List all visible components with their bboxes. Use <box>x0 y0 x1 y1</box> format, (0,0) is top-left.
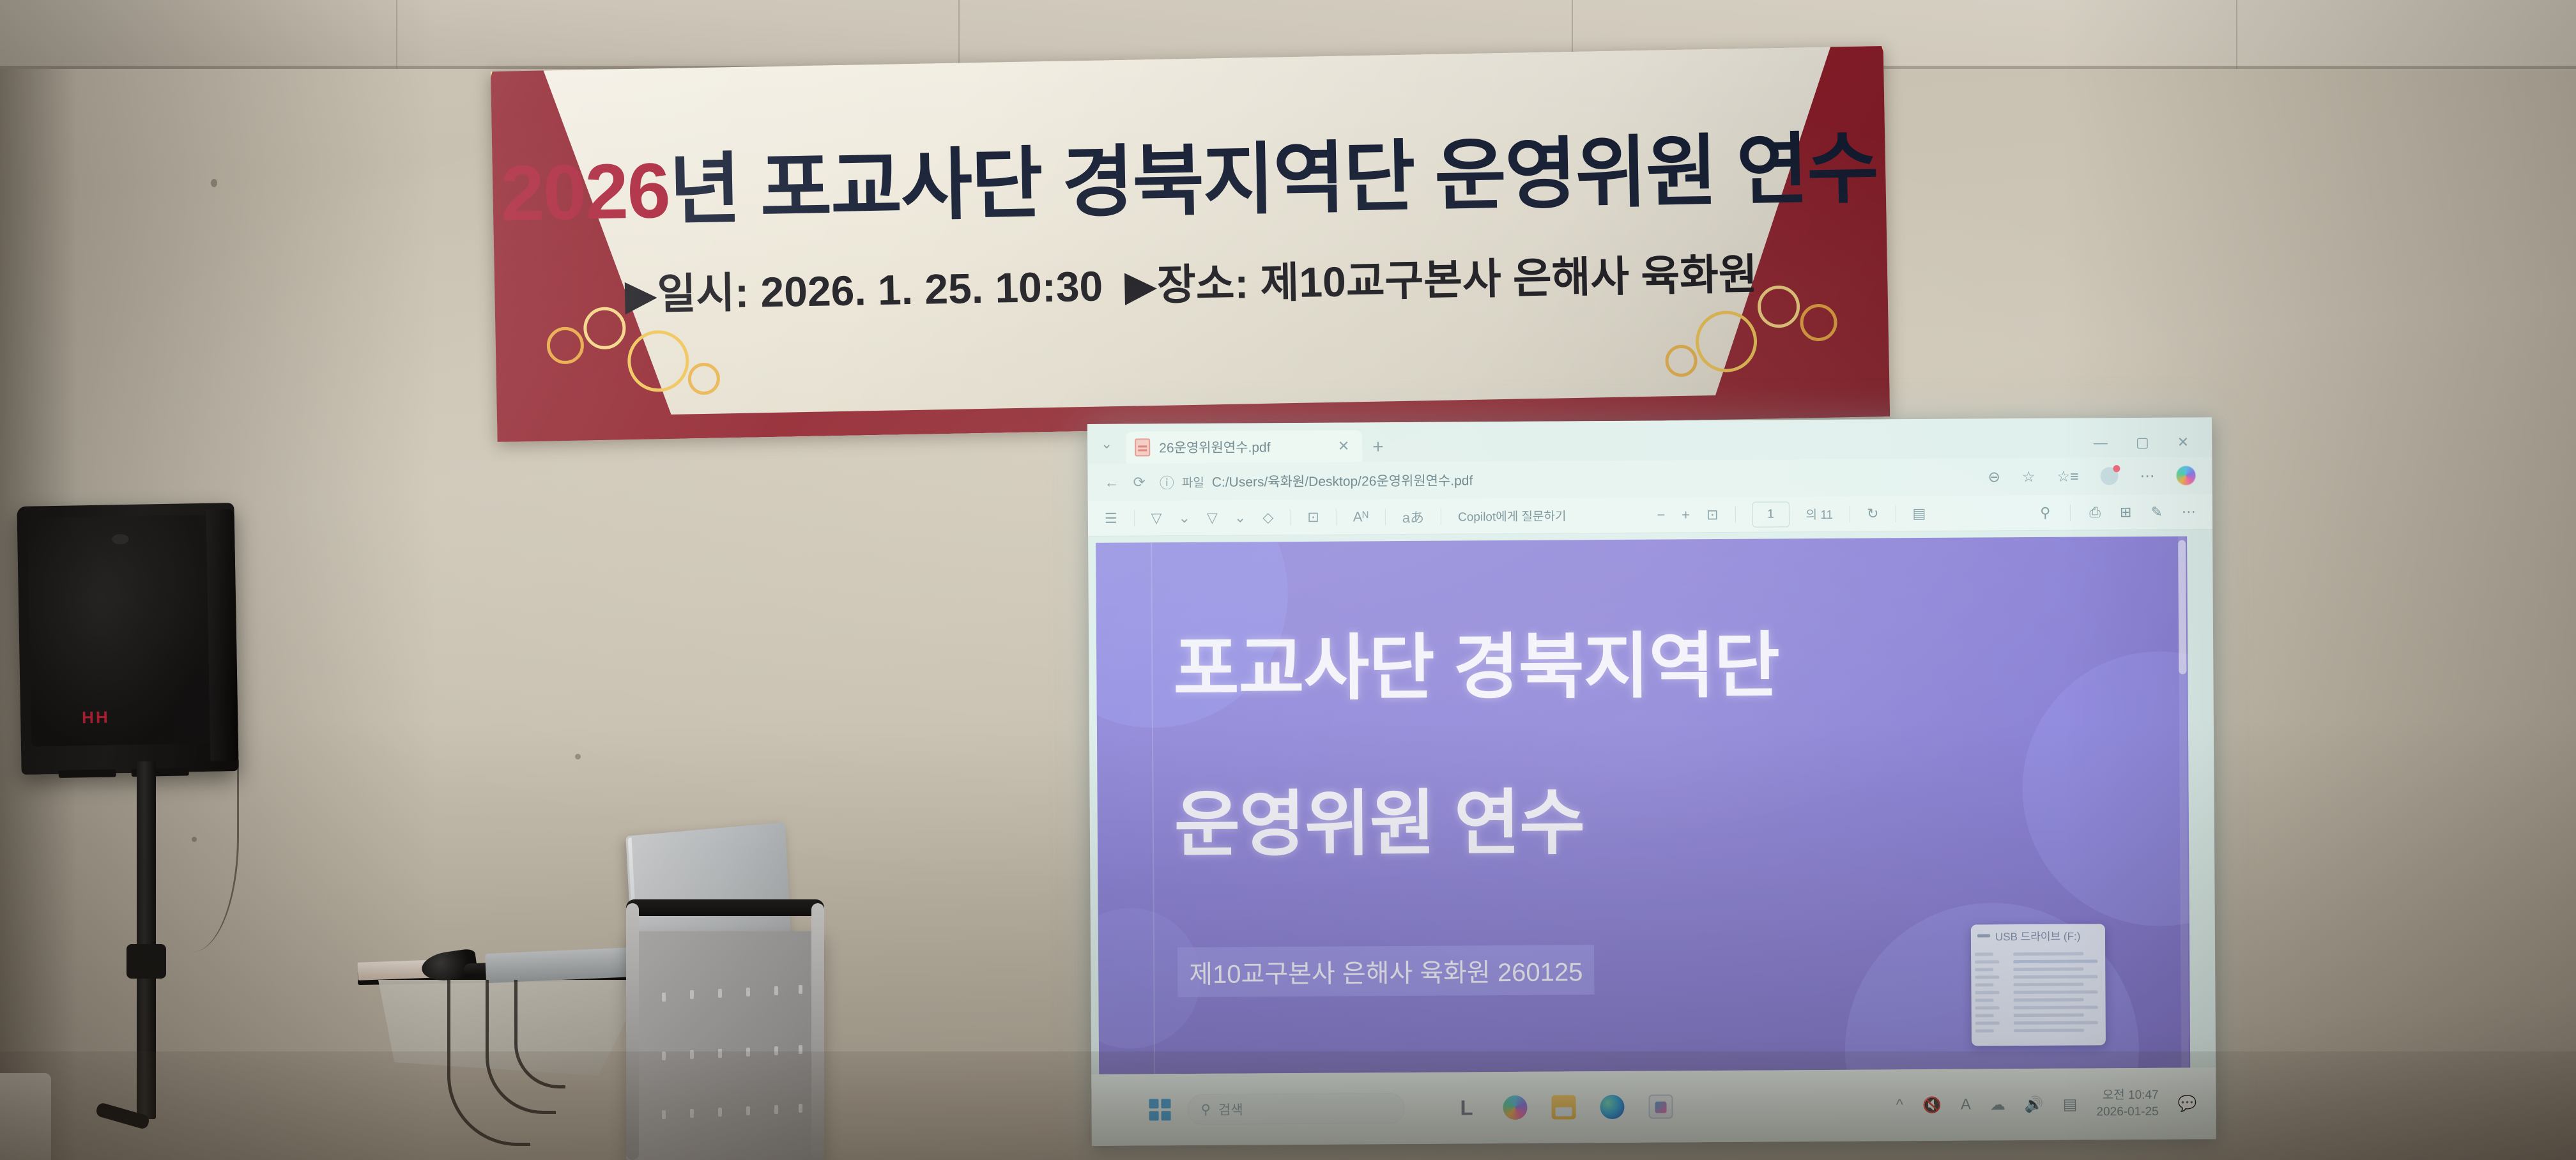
banner-date-label: 일시: <box>657 269 749 318</box>
banner-place-label: 장소: <box>1156 259 1249 309</box>
pdf-more-icon[interactable]: ⋯ <box>2182 503 2196 520</box>
erase-icon[interactable]: ◇ <box>1262 509 1273 526</box>
projected-screen: ⌄ 26운영위원연수.pdf ✕ + — ▢ ✕ ← ⟳ ⓘ 파일 C:/Use… <box>1087 417 2216 1146</box>
banner-swoosh-cream <box>491 46 1080 442</box>
mini-window-body <box>1971 945 2106 1046</box>
room-scene: 2026년 포교사단 경북지역단 운영위원 연수 ▶일시: 2026. 1. 2… <box>0 0 2576 1160</box>
speaker-stand-clamp <box>126 944 166 979</box>
page-total-label: 의 11 <box>1805 505 1833 523</box>
speaker-cable <box>162 760 239 952</box>
fit-page-icon[interactable]: ⊡ <box>1706 506 1719 523</box>
save-icon[interactable]: ⊞ <box>2120 504 2132 521</box>
pa-speaker: HH <box>17 503 238 775</box>
mini-window-sidebar <box>1971 946 2010 1046</box>
toolbar-divider <box>1850 505 1850 522</box>
highlight-caret-icon[interactable]: ⌄ <box>1178 510 1190 526</box>
back-icon[interactable]: ← <box>1104 473 1119 491</box>
toolbar-divider <box>1735 506 1735 523</box>
pdf-scrollbar-thumb[interactable] <box>2178 540 2186 675</box>
copilot-ask-button[interactable]: Copilot에게 질문하기 <box>1458 507 1566 524</box>
tab-title: 26운영위원연수.pdf <box>1159 437 1270 457</box>
draw-caret-icon[interactable]: ⌄ <box>1234 509 1246 526</box>
toolbar-divider <box>1895 505 1896 522</box>
place-marker-icon: ▶ <box>1124 261 1158 309</box>
page-layout-icon[interactable]: ▤ <box>1912 505 1926 521</box>
zoom-in-button[interactable]: + <box>1682 507 1690 523</box>
site-info-icon[interactable]: ⓘ <box>1160 471 1174 492</box>
date-marker-icon: ▶ <box>624 270 657 318</box>
text-box-icon[interactable]: ⊡ <box>1307 508 1319 525</box>
address-bar[interactable]: ← ⟳ ⓘ 파일 C:/Users/육화원/Desktop/26운영위원연수.p… <box>1087 457 2212 501</box>
close-button[interactable]: ✕ <box>2177 434 2189 450</box>
page-number-input[interactable]: 1 <box>1752 501 1789 527</box>
slide-heading-line2: 운영위원 연수 <box>1174 765 1584 871</box>
browser-tab-strip: ⌄ 26운영위원연수.pdf ✕ + — ▢ ✕ <box>1087 417 2212 464</box>
pdf-slide: 포교사단 경북지역단 운영위원 연수 제10교구본사 은해사 육화원 26012… <box>1096 536 2190 1074</box>
toolbar-divider <box>1385 508 1386 525</box>
url-field[interactable]: ⓘ 파일 C:/Users/육화원/Desktop/26운영위원연수.pdf <box>1160 466 1974 493</box>
ceiling-seam <box>958 0 960 69</box>
ceiling-seam <box>396 0 397 69</box>
toolbar-divider <box>1336 508 1337 525</box>
floor <box>0 1051 2576 1160</box>
banner-year-suffix: 년 <box>668 146 740 234</box>
maximize-button[interactable]: ▢ <box>2136 434 2149 451</box>
toolbar-divider <box>1134 510 1135 526</box>
banner-date-value: 2026. 1. 25. 10:30 <box>760 263 1103 316</box>
copilot-icon[interactable] <box>2176 466 2195 485</box>
tab-list-caret-icon[interactable]: ⌄ <box>1087 424 1126 464</box>
read-aloud-icon[interactable]: Aᴺ <box>1353 508 1368 525</box>
reload-icon[interactable]: ⟳ <box>1133 473 1145 491</box>
mini-window-file-list <box>2009 945 2106 1046</box>
ceiling-seam <box>2236 0 2237 69</box>
zoom-out-button[interactable]: − <box>1657 507 1665 523</box>
tab-close-icon[interactable]: ✕ <box>1334 438 1354 454</box>
banner-place-value: 제10교구본사 은해사 육화원 <box>1260 250 1758 307</box>
new-tab-button[interactable]: + <box>1372 436 1384 458</box>
url-scheme-label: 파일 <box>1182 473 1204 490</box>
usb-drive-explorer-window[interactable]: USB 드라이브 (F:) <box>1971 924 2106 1046</box>
mini-window-titlebar: USB 드라이브 (F:) <box>1971 924 2105 946</box>
event-banner: 2026년 포교사단 경북지역단 운영위원 연수 ▶일시: 2026. 1. 2… <box>491 46 1890 442</box>
toolbar-divider <box>2069 504 2070 521</box>
search-icon[interactable]: ⚲ <box>2040 504 2050 521</box>
print-icon[interactable]: ⎙ <box>2089 504 2101 521</box>
pdf-toolbar: ☰ ▽ ⌄ ▽ ⌄ ◇ ⊡ Aᴺ aあ Copilot에게 질문하기 − + ⊡… <box>1088 494 2212 537</box>
wall-speck <box>211 179 217 187</box>
draw-icon[interactable]: ▽ <box>1207 509 1218 526</box>
browser-tab[interactable]: 26운영위원연수.pdf ✕ <box>1126 430 1362 463</box>
toolbar-divider <box>1441 508 1441 524</box>
url-text: C:/Users/육화원/Desktop/26운영위원연수.pdf <box>1212 470 1473 491</box>
toolbar-divider <box>1290 509 1291 526</box>
rotate-icon[interactable]: ↻ <box>1867 505 1879 522</box>
zoom-out-icon[interactable]: ⊖ <box>1988 468 2000 485</box>
table-of-contents-icon[interactable]: ☰ <box>1105 510 1117 526</box>
browser-more-icon[interactable]: ⋯ <box>2140 467 2154 484</box>
speaker-grille <box>27 515 211 747</box>
slide-caption: 제10교구본사 은해사 육화원 260125 <box>1177 945 1595 997</box>
banner-title-rest: 포교사단 경북지역단 운영위원 연수 <box>759 125 1878 232</box>
favorite-star-icon[interactable]: ☆ <box>2022 468 2035 485</box>
slide-heading-line1: 포교사단 경북지역단 <box>1173 607 1779 715</box>
annotate-icon[interactable]: ✎ <box>2150 503 2163 520</box>
pdf-file-icon <box>1135 438 1150 456</box>
speaker-foot <box>59 769 116 778</box>
mini-window-title: USB 드라이브 (F:) <box>1995 927 2081 943</box>
lectern-top-bar <box>626 899 824 916</box>
pdf-toolbar-right: ⚲ ⎙ ⊞ ✎ ⋯ <box>2040 503 2196 521</box>
translate-icon[interactable]: aあ <box>1402 506 1424 526</box>
minimize-button[interactable]: — <box>2094 434 2108 451</box>
mini-window-minimize-icon[interactable] <box>1977 934 1990 937</box>
window-controls: — ▢ ✕ <box>2094 434 2212 457</box>
speaker-brand-logo: HH <box>82 708 110 728</box>
slide-decor-blob <box>2021 650 2190 927</box>
banner-year: 2026 <box>500 147 670 237</box>
profile-avatar[interactable] <box>2100 467 2118 485</box>
wall-speck <box>575 754 581 759</box>
highlight-icon[interactable]: ▽ <box>1151 510 1162 526</box>
collections-icon[interactable]: ☆≡ <box>2057 468 2078 485</box>
speaker-side-panel <box>206 509 238 761</box>
browser-actions: ⊖ ☆ ☆≡ ⋯ <box>1988 466 2195 486</box>
